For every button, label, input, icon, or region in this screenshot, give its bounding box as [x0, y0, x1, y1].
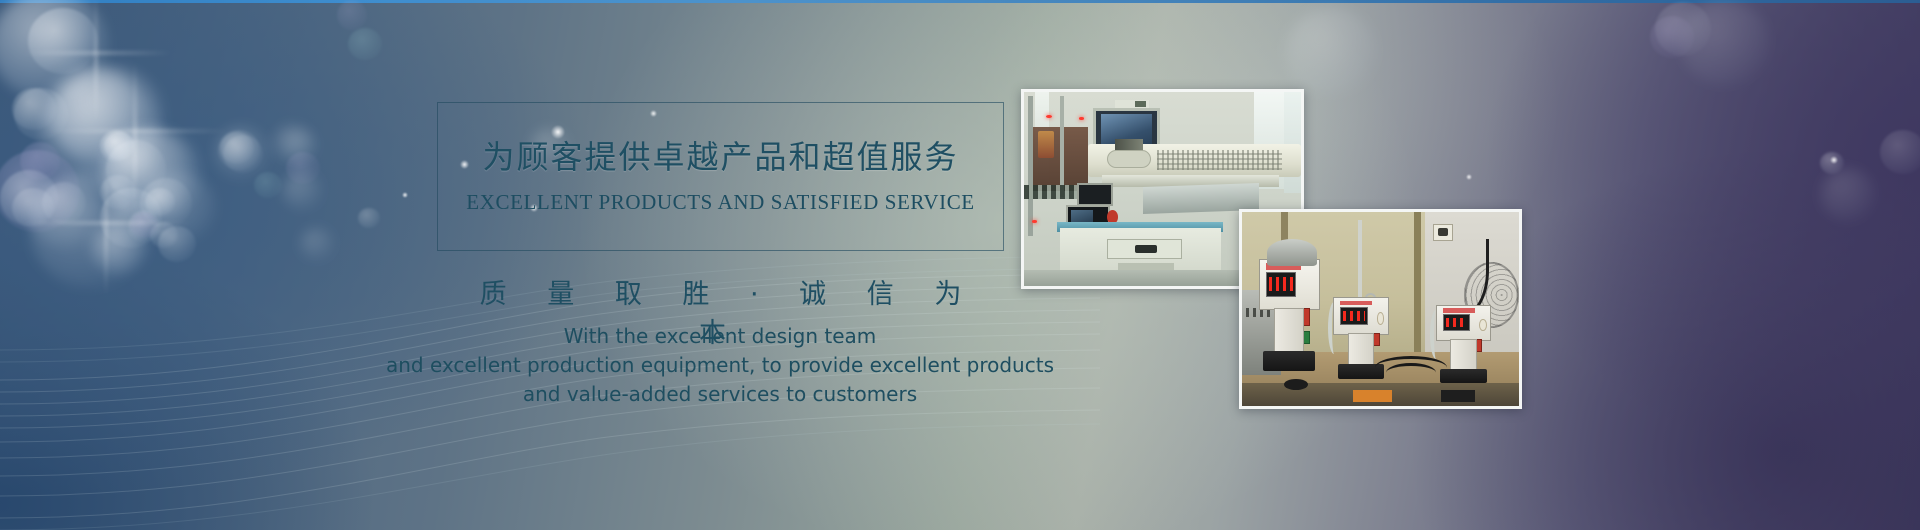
bokeh-circle-violet — [337, 0, 367, 30]
bokeh-circle — [28, 8, 98, 74]
bokeh-circle — [218, 130, 260, 170]
bokeh-circle-violet — [1650, 16, 1694, 58]
bokeh-circle-violet — [286, 152, 320, 184]
description-line-1: With the excellent design team — [300, 322, 1140, 351]
headline-chinese: 为顾客提供卓越产品和超值服务 — [437, 132, 1004, 178]
description-line-2: and excellent production equipment, to p… — [300, 351, 1140, 380]
bokeh-circle — [1285, 8, 1377, 96]
lens-flare — [95, 0, 97, 124]
bokeh-circle-teal — [254, 172, 282, 198]
sparkle — [402, 192, 408, 198]
bokeh-circle — [1880, 130, 1920, 174]
bokeh-circle-teal — [348, 28, 382, 60]
press-machine-left — [1259, 259, 1320, 372]
lens-flare — [22, 52, 172, 54]
bokeh-circle — [1820, 168, 1876, 222]
lens-flare — [134, 62, 136, 212]
sparkle — [1830, 156, 1838, 164]
bokeh-circle — [1680, 0, 1770, 86]
lens-flare — [22, 222, 192, 224]
press-machines-photo — [1239, 209, 1522, 409]
headline-english: EXCELLENT PRODUCTS AND SATISFIED SERVICE — [437, 190, 1004, 215]
description-line-3: and value-added services to customers — [300, 380, 1140, 409]
company-banner: 为顾客提供卓越产品和超值服务 EXCELLENT PRODUCTS AND SA… — [0, 0, 1920, 530]
description-text: With the excellent design team and excel… — [300, 322, 1140, 409]
sparkle — [1466, 174, 1472, 180]
press-machines-scene — [1242, 212, 1519, 406]
bokeh-circle — [12, 88, 56, 130]
lens-flare — [48, 130, 228, 132]
bokeh-circle — [358, 208, 380, 228]
